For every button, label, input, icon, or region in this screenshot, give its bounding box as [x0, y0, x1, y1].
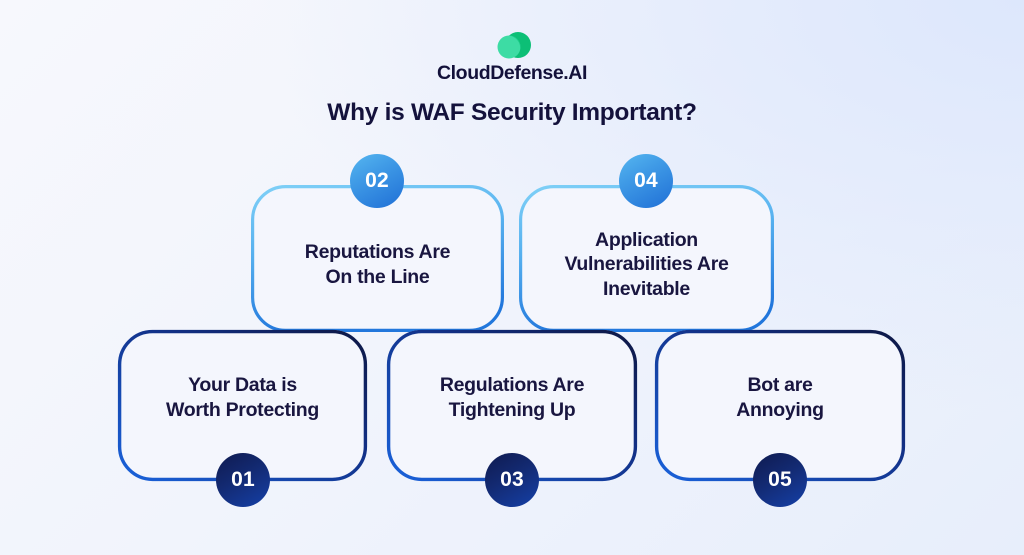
cloud-logo-icon: [489, 30, 535, 60]
card-01-label: Your Data is Worth Protecting: [152, 373, 333, 422]
page-title: Why is WAF Security Important?: [0, 99, 1024, 127]
brand-header: CloudDefense.AI: [0, 30, 1024, 84]
card-03-label: Regulations Are Tightening Up: [426, 373, 598, 422]
badge-05[interactable]: 05: [753, 453, 807, 507]
badge-02[interactable]: 02: [350, 154, 404, 208]
badge-04[interactable]: 04: [619, 154, 673, 208]
brand-name: CloudDefense.AI: [0, 64, 1024, 84]
badge-01[interactable]: 01: [216, 453, 270, 507]
infographic-canvas: CloudDefense.AI Why is WAF Security Impo…: [0, 0, 1024, 555]
badge-03[interactable]: 03: [485, 453, 539, 507]
card-05-label: Bot are Annoying: [722, 373, 838, 422]
card-02-label: Reputations Are On the Line: [291, 240, 464, 289]
card-04-label: Application Vulnerabilities Are Inevitab…: [550, 228, 742, 301]
